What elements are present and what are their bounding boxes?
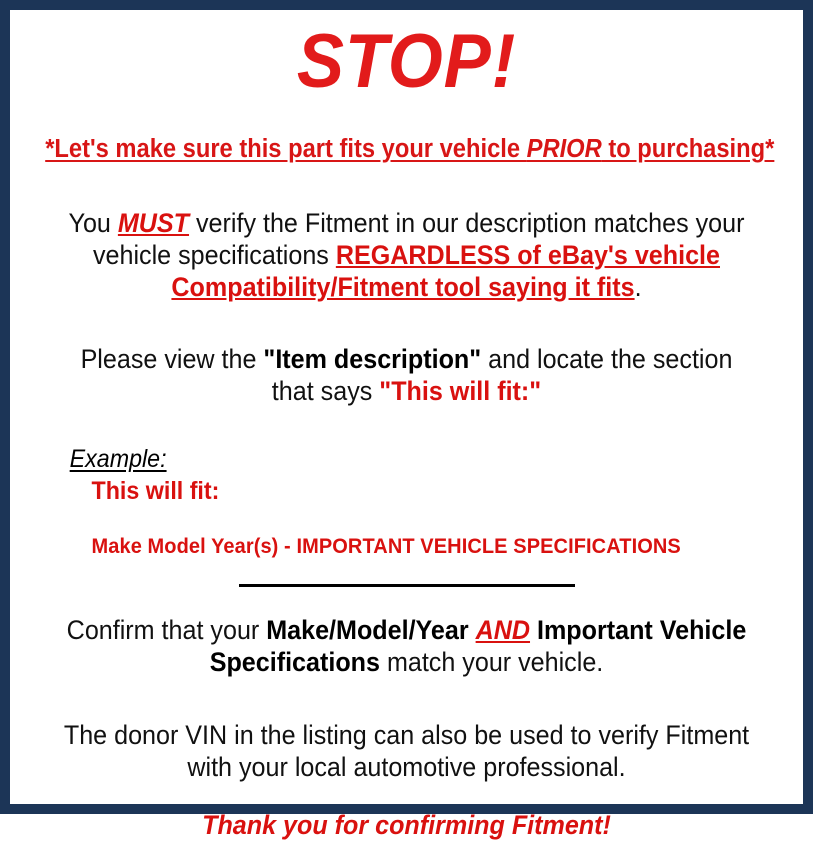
subtitle-before: *Let's make sure this part fits your veh… (45, 135, 526, 163)
example-fit-line: This will fit: (92, 477, 770, 507)
confirm-seg-2 (469, 615, 476, 645)
example-spec-line: Make Model Year(s) - IMPORTANT VEHICLE S… (92, 534, 770, 559)
example-label-row: Example: (66, 445, 795, 475)
paragraph-donor-vin: The donor VIN in the listing can also be… (45, 720, 768, 784)
must-seg-1: You (69, 208, 118, 238)
emphasis-make-model-year: Make/Model/Year (266, 615, 468, 645)
itemdesc-seg-1: Please view the (81, 344, 264, 374)
stop-heading: STOP! (45, 24, 768, 100)
subtitle-after: to purchasing* (602, 135, 775, 163)
fitment-notice-card: STOP! *Let's make sure this part fits yo… (0, 0, 813, 814)
emphasis-item-description: "Item description" (263, 344, 481, 374)
emphasis-this-will-fit-quote: "This will fit:" (379, 376, 541, 406)
horizontal-rule (239, 584, 575, 587)
confirm-seg-4: match your vehicle. (380, 647, 603, 677)
confirm-seg-1: Confirm that your (67, 615, 267, 645)
emphasis-and: AND (476, 615, 530, 645)
paragraph-item-description: Please view the "Item description" and l… (45, 344, 768, 408)
must-seg-3: . (635, 272, 642, 302)
example-label: Example: (70, 445, 167, 475)
notice-inner: STOP! *Let's make sure this part fits yo… (18, 24, 795, 818)
paragraph-confirm: Confirm that your Make/Model/Year AND Im… (45, 615, 768, 679)
confirm-seg-3 (530, 615, 537, 645)
thank-you-line: Thank you for confirming Fitment! (45, 810, 768, 842)
subtitle-emphasis-prior: PRIOR (527, 135, 602, 163)
emphasis-must: MUST (118, 208, 189, 238)
paragraph-must-verify: You MUST verify the Fitment in our descr… (45, 208, 768, 304)
divider-wrap (18, 584, 795, 587)
subtitle-line: *Let's make sure this part fits your veh… (45, 134, 768, 164)
example-block: Example: This will fit: Make Model Year(… (18, 445, 795, 559)
